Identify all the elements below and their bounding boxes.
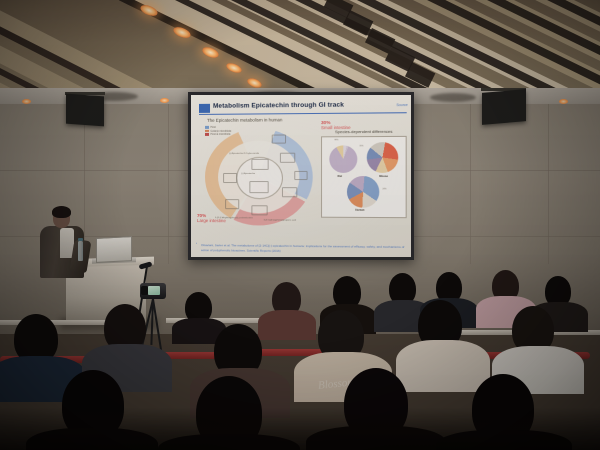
projection-screen: Metabolism Epicatechin through GI track …: [191, 95, 411, 257]
audience-shoulders: [396, 340, 490, 392]
molecule-structure: [251, 159, 268, 170]
metabolite-label: (-)-Epicatechin-3'-O-glucuronide: [229, 153, 259, 155]
title-underline: [199, 112, 407, 115]
ceiling-light: [225, 61, 243, 74]
large-intestine-annotation: 70% Large intestine: [197, 213, 226, 223]
pie-label: Human: [355, 209, 364, 212]
recessed-downlight: [160, 98, 169, 103]
presentation-slide: Metabolism Epicatechin through GI track …: [191, 95, 411, 257]
molecule-structure: [249, 181, 268, 193]
audience-shoulders: [258, 310, 316, 340]
molecule-structure: [294, 171, 307, 180]
molecule-structure: [251, 205, 267, 215]
molecule-structure: [282, 187, 297, 197]
molecule-structure: [280, 153, 295, 163]
mouse-pie: [367, 142, 398, 173]
water-bottle: [78, 241, 83, 261]
pies-panel-title: Species-dependent differences: [322, 129, 406, 135]
presenter-hair: [52, 206, 71, 218]
core-label: (-)-Epicatechin: [241, 173, 255, 175]
pies-panel: Rat 98% Mouse 31% Human 24%: [321, 136, 407, 218]
camera-lens-icon: [141, 286, 148, 295]
slide-citation: Ottaviani, Javier et al. The metabolome …: [201, 243, 407, 254]
pie-label: Mouse: [379, 175, 388, 178]
slide-title: Metabolism Epicatechin through GI track: [213, 102, 344, 110]
large-intestine-text: Large intestine: [197, 218, 226, 223]
molecule-structure: [225, 199, 239, 209]
molecule-structure: [223, 173, 237, 183]
audience-shoulders-front: [26, 428, 158, 450]
presenter-laptop[interactable]: [96, 236, 132, 263]
wall-speaker-right: [482, 89, 526, 125]
wall-speaker-left: [66, 94, 104, 127]
metabolite-label: 3-(3'-hydroxyphenyl)propionic acid: [264, 219, 296, 221]
circular-metabolism-diagram: (-)-Epicatechin (-)-Epicatechin-3'-O-glu…: [205, 128, 313, 226]
slide-subtitle: The Epicatechin metabolism in human: [207, 117, 282, 123]
citation-bullet: •: [196, 241, 197, 245]
audience-shoulders-front: [158, 434, 300, 450]
lecture-hall-photo: Metabolism Epicatechin through GI track …: [0, 0, 600, 450]
rat-pie: [329, 145, 357, 173]
molecule-structure: [272, 134, 286, 143]
audience-shoulders-front: [306, 426, 446, 450]
title-accent-square: [199, 104, 210, 113]
human-pie: [347, 176, 379, 208]
camera-lcd-screen: [148, 286, 160, 295]
audience-shoulders-front: [436, 430, 572, 450]
pie-label: Rat: [338, 175, 342, 178]
slide-source-tag: Source: [396, 103, 407, 107]
